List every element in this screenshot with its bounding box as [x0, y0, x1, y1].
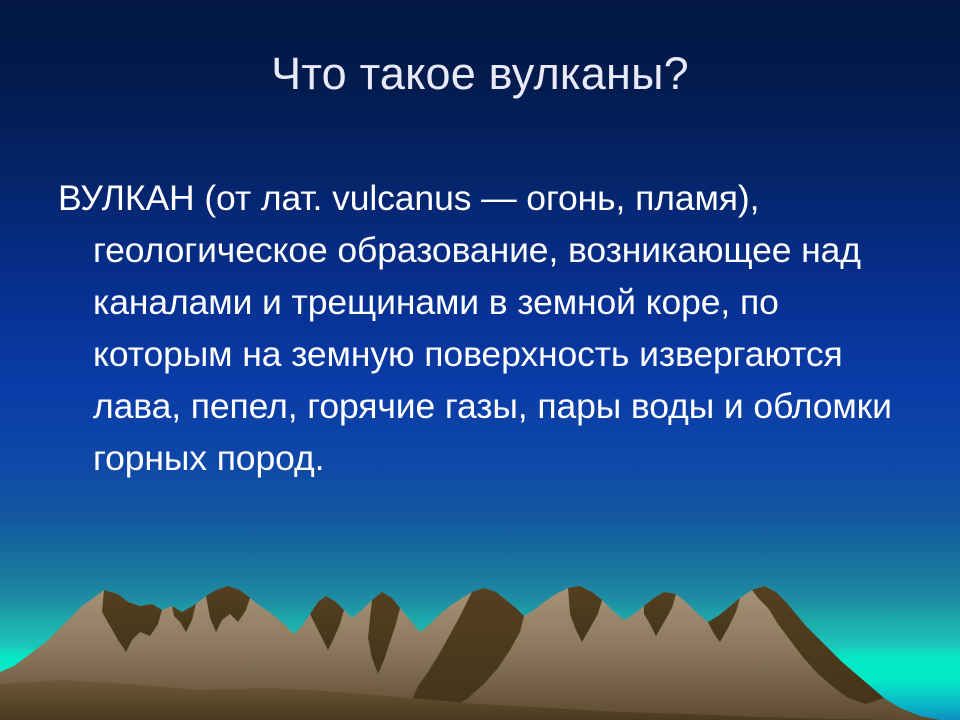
slide-title: Что такое вулканы?: [0, 50, 960, 97]
slide-body: ВУЛКАН (от лат. vulcanus — огонь, пламя)…: [58, 172, 918, 484]
mountain-range-illustration: [0, 580, 960, 720]
slide-body-paragraph: ВУЛКАН (от лат. vulcanus — огонь, пламя)…: [58, 172, 918, 484]
presentation-slide: Что такое вулканы? ВУЛКАН (от лат. vulca…: [0, 0, 960, 720]
